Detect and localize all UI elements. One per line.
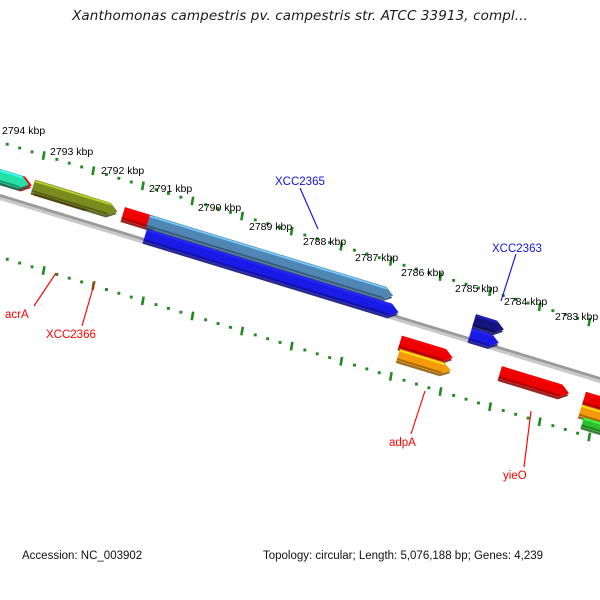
accession-text: Accession: NC_003902 [22, 550, 142, 562]
gene-label-XCC2363[interactable]: XCC2363 [492, 243, 542, 255]
status-bar: Accession: NC_003902 Topology: circular;… [0, 540, 600, 600]
gene-label-XCC2366[interactable]: XCC2366 [46, 329, 96, 341]
ruler-tick-label: 2786 kbp [401, 267, 444, 279]
gene-leader-line-XCC2366 [82, 281, 95, 326]
ruler-tick-label: 2785 kbp [455, 283, 498, 295]
ruler-tick-label: 2794 kbp [2, 125, 45, 137]
gene-label-XCC2365[interactable]: XCC2365 [275, 176, 325, 188]
genome-viewer-window: Xanthomonas campestris pv. campestris st… [0, 0, 600, 600]
gene-label-yieO[interactable]: yieO [503, 470, 527, 482]
ruler-track-upper [0, 131, 600, 341]
gene-feature-yieO-red-bar[interactable] [497, 366, 570, 402]
ruler-tick-label: 2789 kbp [249, 221, 292, 233]
gene-feature-XCC2366-gene[interactable] [30, 180, 119, 220]
ruler-tick-label: 2783 kbp [555, 311, 598, 323]
ruler-tick-label: 2790 kbp [198, 202, 241, 214]
ruler-tick-label: 2784 kbp [504, 296, 547, 308]
ruler-tick-label: 2791 kbp [149, 183, 192, 195]
gene-leader-line-XCC2365 [300, 188, 318, 229]
ruler-tick-label: 2793 kbp [50, 146, 93, 158]
gene-label-acrA[interactable]: acrA [5, 309, 29, 321]
gene-leader-line-acrA [34, 273, 56, 306]
ruler-tick-label: 2788 kbp [303, 236, 346, 248]
topology-text: Topology: circular; Length: 5,076,188 bp… [263, 550, 543, 562]
gene-label-adpA[interactable]: adpA [389, 437, 416, 449]
ruler-tick-label: 2787 kbp [355, 252, 398, 264]
genome-diagram-canvas[interactable] [0, 0, 600, 540]
gene-leader-line-XCC2363 [501, 254, 516, 301]
ruler-tick-label: 2792 kbp [101, 165, 144, 177]
genome-diagram-svg[interactable] [0, 0, 600, 540]
gene-feature-XCC2365-lower-bar[interactable] [142, 229, 400, 321]
gene-leader-line-adpA [411, 391, 425, 434]
